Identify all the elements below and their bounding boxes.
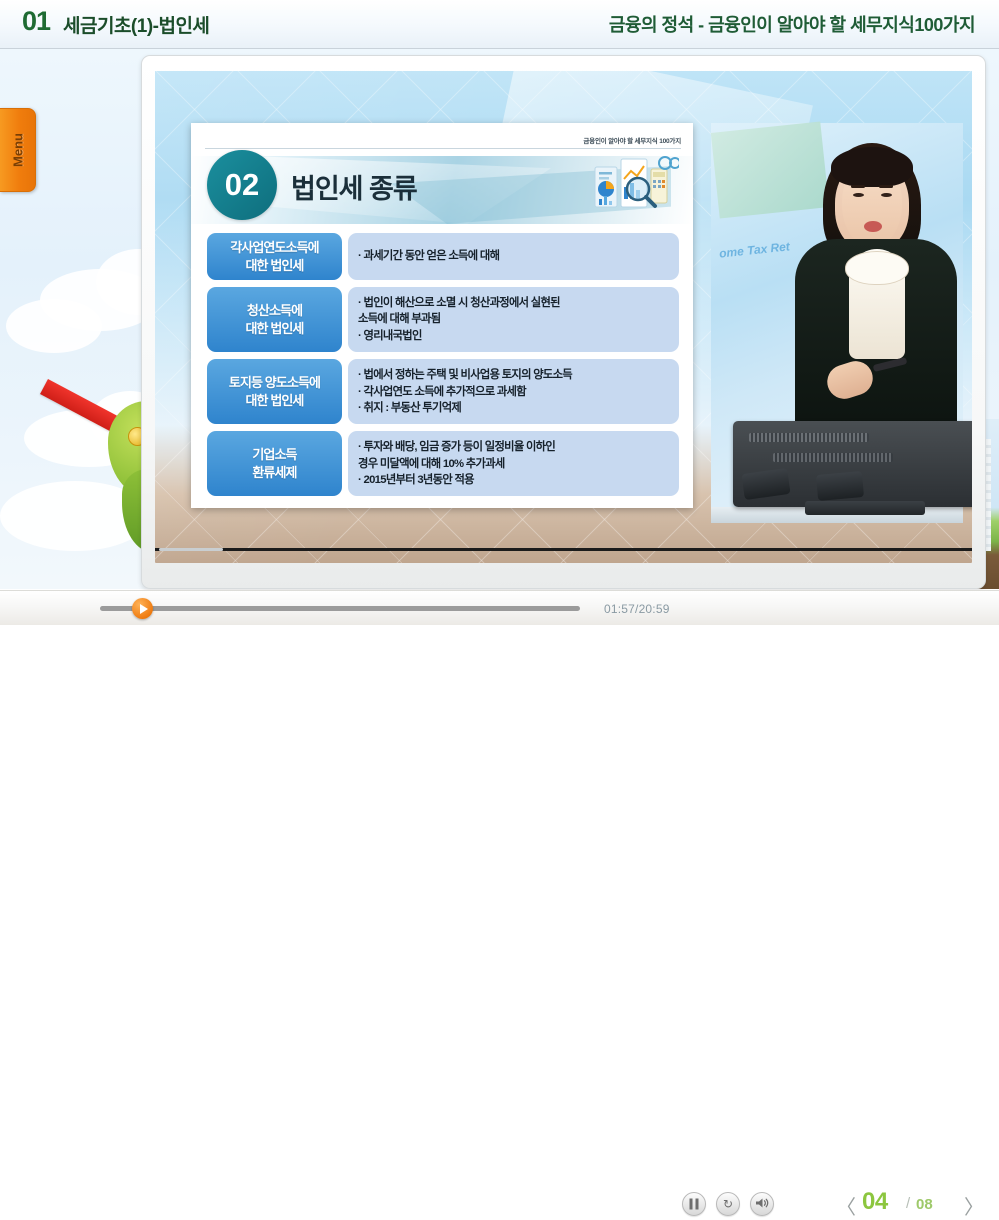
slide-title: 법인세 종류 xyxy=(291,167,417,206)
page-header: 01 세금기초(1)-법인세 금융의 정석 - 금융인이 알아야 할 세무지식1… xyxy=(0,0,999,49)
row-label: 각사업연도소득에 대한 법인세 xyxy=(207,233,342,280)
row-bullet: · 취지 : 부동산 투기억제 xyxy=(358,400,669,416)
next-page-button[interactable]: 〉 xyxy=(964,1191,984,1220)
current-page: 04 xyxy=(862,1188,888,1216)
slide-rows: 각사업연도소득에 대한 법인세 · 과세기간 동안 얻은 소득에 대해 청산소득… xyxy=(207,233,679,503)
row-body: · 과세기간 동안 얻은 소득에 대해 xyxy=(348,233,679,280)
chart-magnifier-icon xyxy=(593,155,679,215)
menu-tab-label: Menu xyxy=(10,133,25,167)
row-bullet: · 각사업연도 소득에 추가적으로 과세함 xyxy=(358,384,669,400)
backdrop-poster xyxy=(711,121,829,218)
row-bullet: · 법인이 해산으로 소멸 시 청산과정에서 실현된 xyxy=(358,295,669,311)
chapter-title: 세금기초(1)-법인세 xyxy=(63,11,209,38)
menu-tab-button[interactable]: Menu xyxy=(0,108,36,192)
row-label-line: 기업소득 xyxy=(252,446,296,464)
row-bullet: 소득에 대해 부과됨 xyxy=(358,311,669,327)
course-title: 금융의 정석 - 금융인이 알아야 할 세무지식100가지 xyxy=(609,11,975,37)
lecturer-collar xyxy=(845,251,909,285)
row-label-line: 각사업연도소득에 xyxy=(230,239,318,257)
lecturer-eyebrow xyxy=(851,185,865,188)
row-bullet: · 영리내국법인 xyxy=(358,328,669,344)
row-body: · 법에서 정하는 주택 및 비사업용 토지의 양도소득 · 각사업연도 소득에… xyxy=(348,359,679,424)
prev-page-button[interactable]: 〈 xyxy=(836,1191,856,1220)
monitor-vent xyxy=(773,453,893,462)
row-bullet: 경우 미달액에 대해 10% 추가과세 xyxy=(358,456,669,472)
slide-section-badge: 02 xyxy=(207,150,277,220)
row-label: 토지등 양도소득에 대한 법인세 xyxy=(207,359,342,424)
video-scrollbar-thumb[interactable] xyxy=(159,548,223,551)
video-player[interactable]: ome Tax Ret 금융인이 알아야 할 세무지식 100가지 02 법인세… xyxy=(155,71,972,563)
chapter-number: 01 xyxy=(22,6,50,37)
row-label: 청산소득에 대한 법인세 xyxy=(207,287,342,352)
row-label-line: 토지등 양도소득에 xyxy=(229,374,320,392)
page-separator: / xyxy=(906,1195,910,1212)
video-scrollbar-track[interactable] xyxy=(155,548,972,551)
lecturer-eyebrow xyxy=(879,185,893,188)
row-bullet: · 투자와 배당, 임금 증가 등이 일정비율 이하인 xyxy=(358,439,669,455)
total-pages: 08 xyxy=(916,1196,933,1213)
table-row: 각사업연도소득에 대한 법인세 · 과세기간 동안 얻은 소득에 대해 xyxy=(207,233,679,280)
pause-button[interactable] xyxy=(682,1192,706,1216)
table-row: 기업소득 환류세제 · 투자와 배당, 임금 증가 등이 일정비율 이하인 경우… xyxy=(207,431,679,496)
lecturer-hair-front xyxy=(831,147,913,187)
row-bullet: · 2015년부터 3년동안 적용 xyxy=(358,472,669,488)
cloud-decoration xyxy=(6,299,102,353)
row-label-line: 대한 법인세 xyxy=(245,257,303,275)
pause-icon xyxy=(690,1199,699,1210)
presentation-slide: 금융인이 알아야 할 세무지식 100가지 02 법인세 종류 xyxy=(191,123,693,508)
camera-icon xyxy=(816,471,864,501)
row-label-line: 청산소득에 xyxy=(247,302,302,320)
speaker-icon xyxy=(755,1197,769,1211)
slide-top-note: 금융인이 알아야 할 세무지식 100가지 xyxy=(583,135,681,145)
table-row: 청산소득에 대한 법인세 · 법인이 해산으로 소멸 시 청산과정에서 실현된 … xyxy=(207,287,679,352)
row-bullet: · 과세기간 동안 얻은 소득에 대해 xyxy=(358,248,669,264)
seek-bar[interactable] xyxy=(100,606,580,611)
replay-button[interactable]: ↻ xyxy=(716,1192,740,1216)
player-control-bar: 01:57/20:59 ↻ 〈 04 / 08 〉 xyxy=(0,590,999,625)
table-row: 토지등 양도소득에 대한 법인세 · 법에서 정하는 주택 및 비사업용 토지의… xyxy=(207,359,679,424)
row-label-line: 환류세제 xyxy=(252,464,296,482)
row-body: · 법인이 해산으로 소멸 시 청산과정에서 실현된 소득에 대해 부과됨 · … xyxy=(348,287,679,352)
volume-button[interactable] xyxy=(750,1192,774,1216)
replay-icon: ↻ xyxy=(723,1198,733,1210)
row-label-line: 대한 법인세 xyxy=(245,320,303,338)
monitor-stand xyxy=(805,501,925,515)
row-label-line: 대한 법인세 xyxy=(245,392,303,410)
row-body: · 투자와 배당, 임금 증가 등이 일정비율 이하인 경우 미달액에 대해 1… xyxy=(348,431,679,496)
monitor-vent xyxy=(749,433,869,442)
lecturer-eye xyxy=(881,193,892,197)
lecturer-eye xyxy=(853,193,864,197)
row-label: 기업소득 환류세제 xyxy=(207,431,342,496)
play-handle-icon[interactable] xyxy=(132,598,153,619)
slide-divider xyxy=(205,148,681,149)
row-bullet: · 법에서 정하는 주택 및 비사업용 토지의 양도소득 xyxy=(358,367,669,383)
lecturer-mouth xyxy=(864,221,882,232)
time-display: 01:57/20:59 xyxy=(604,602,670,616)
